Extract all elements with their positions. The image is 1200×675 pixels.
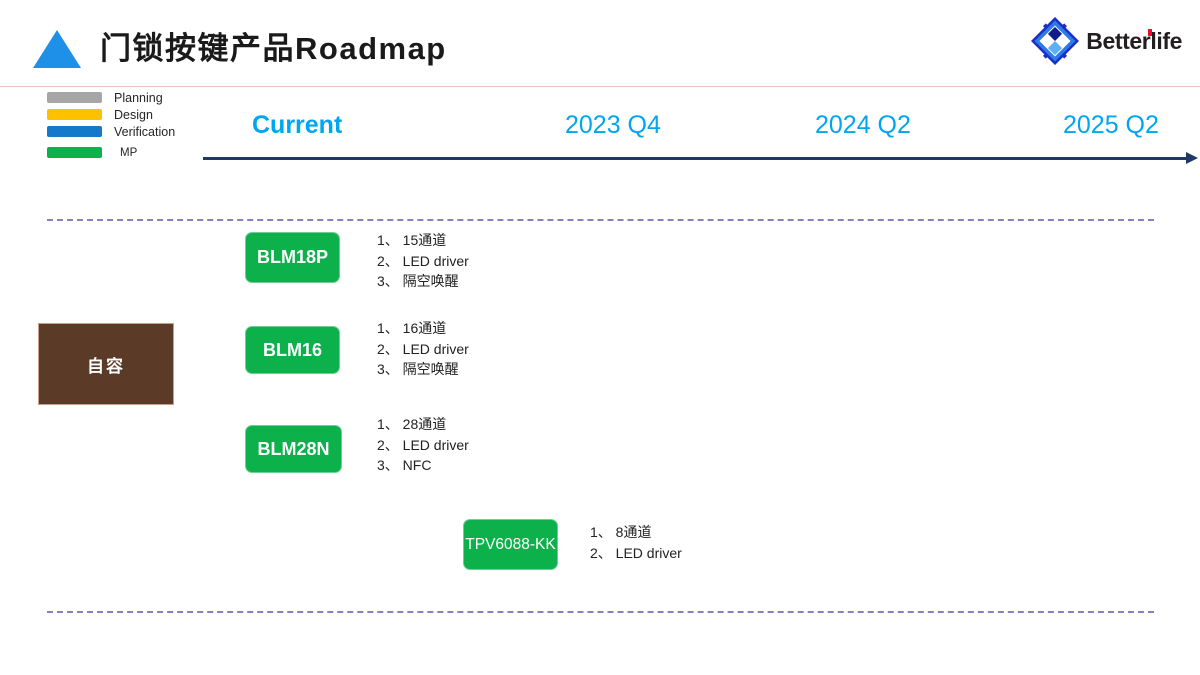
timeline-label-2025-q2: 2025 Q2	[1063, 111, 1159, 140]
product-specs-blm28n: 1、 28通道 2、 LED driver 3、 NFC	[377, 414, 469, 476]
legend-label-design: Design	[114, 108, 153, 122]
brand-logo: Betterlife	[1031, 17, 1182, 65]
spec-line: 1、 15通道	[377, 230, 469, 251]
timeline-label-current: Current	[252, 111, 342, 140]
spec-line: 1、 28通道	[377, 414, 469, 435]
brand-name: Betterlife	[1086, 28, 1182, 55]
product-specs-tpv6088-kk: 1、 8通道 2、 LED driver	[590, 522, 682, 563]
spec-line: 3、 隔空唤醒	[377, 271, 469, 292]
legend-swatch-planning	[47, 92, 102, 103]
spec-line: 1、 16通道	[377, 318, 469, 339]
product-specs-blm16: 1、 16通道 2、 LED driver 3、 隔空唤醒	[377, 318, 469, 380]
timeline-axis	[203, 157, 1188, 160]
spec-line: 3、 隔空唤醒	[377, 359, 469, 380]
legend-label-planning: Planning	[114, 91, 163, 105]
legend-item-verification: Verification	[47, 124, 227, 139]
spec-line: 2、 LED driver	[377, 251, 469, 272]
triangle-icon	[33, 30, 81, 68]
spec-line: 3、 NFC	[377, 455, 469, 476]
legend-item-mp: MP	[47, 145, 227, 160]
logo-accent-dot	[1148, 29, 1152, 36]
spec-line: 2、 LED driver	[377, 435, 469, 456]
legend-item-planning: Planning	[47, 90, 227, 105]
diamond-logo-icon	[1031, 17, 1079, 65]
product-chip-blm16[interactable]: BLM16	[245, 326, 340, 374]
timeline-label-2024-q2: 2024 Q2	[815, 111, 911, 140]
spec-line: 1、 8通道	[590, 522, 682, 543]
legend-swatch-verification	[47, 126, 102, 137]
legend-swatch-design	[47, 109, 102, 120]
section-divider-bottom	[47, 611, 1154, 613]
product-chip-blm28n[interactable]: BLM28N	[245, 425, 342, 473]
category-label-self-capacitance: 自容	[38, 323, 174, 405]
legend-label-verification: Verification	[114, 125, 175, 139]
category-label-text: 自容	[87, 352, 125, 377]
spec-line: 2、 LED driver	[377, 339, 469, 360]
product-chip-tpv6088-kk[interactable]: TPV6088-KK	[463, 519, 558, 570]
product-specs-blm18p: 1、 15通道 2、 LED driver 3、 隔空唤醒	[377, 230, 469, 292]
timeline-label-2023-q4: 2023 Q4	[565, 111, 661, 140]
spec-line: 2、 LED driver	[590, 543, 682, 564]
status-legend: Planning Design Verification MP	[47, 90, 227, 162]
brand-name-text: Betterlife	[1086, 28, 1182, 54]
page-header: 门锁按键产品Roadmap Betterlife	[0, 0, 1200, 86]
section-divider-top	[47, 219, 1154, 221]
legend-item-design: Design	[47, 107, 227, 122]
product-chip-blm18p[interactable]: BLM18P	[245, 232, 340, 283]
legend-swatch-mp	[47, 147, 102, 158]
timeline-arrow-icon	[1186, 152, 1198, 164]
page-title: 门锁按键产品Roadmap	[100, 23, 447, 68]
header-divider	[0, 86, 1200, 87]
legend-label-mp: MP	[120, 147, 137, 159]
